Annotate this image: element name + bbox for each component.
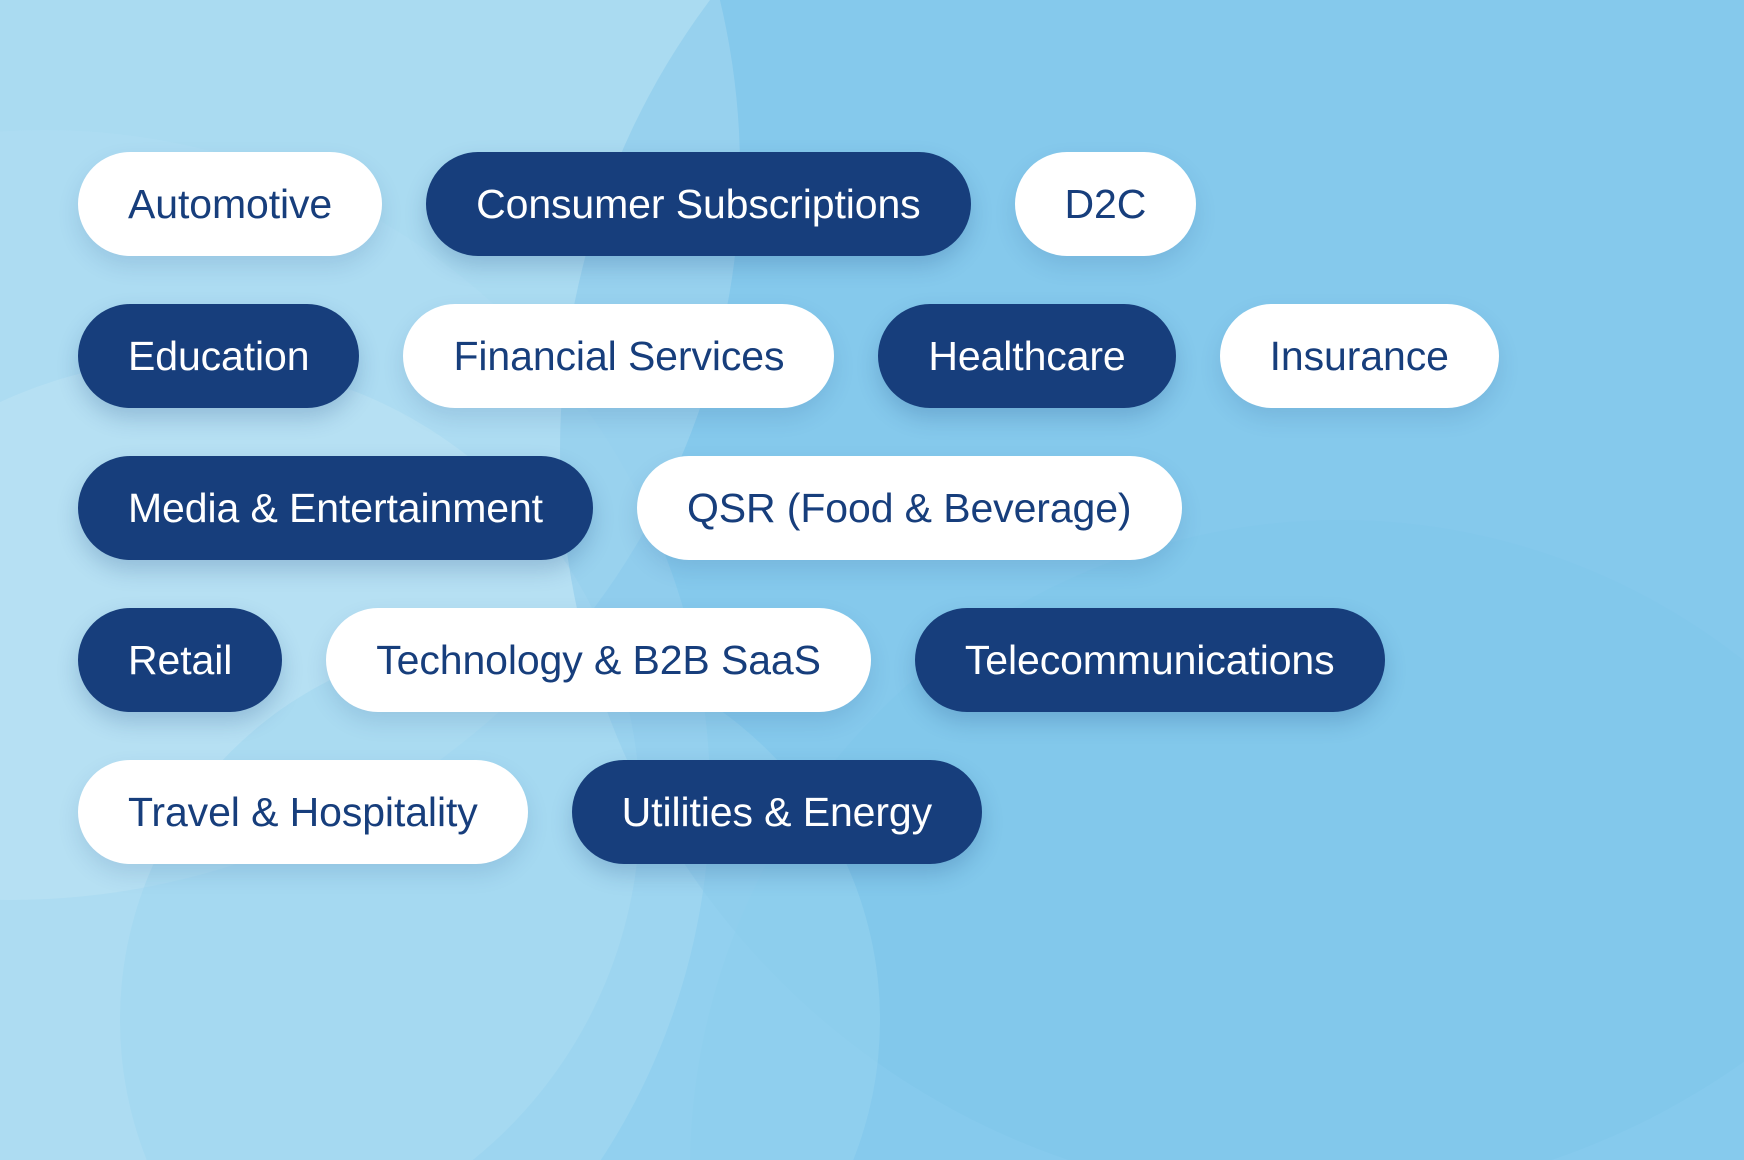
tag-row: RetailTechnology & B2B SaaSTelecommunica… xyxy=(78,608,1744,712)
industry-tag-label: D2C xyxy=(1065,184,1147,225)
industry-tag-label: Automotive xyxy=(128,184,332,225)
industry-tag[interactable]: Automotive xyxy=(78,152,382,256)
tag-row: EducationFinancial ServicesHealthcareIns… xyxy=(78,304,1744,408)
industry-tag[interactable]: Media & Entertainment xyxy=(78,456,593,560)
tag-row: AutomotiveConsumer SubscriptionsD2C xyxy=(78,152,1744,256)
industry-tag-cloud: AutomotiveConsumer SubscriptionsD2CEduca… xyxy=(0,0,1744,1160)
industry-tag[interactable]: Retail xyxy=(78,608,282,712)
industry-tag-label: Technology & B2B SaaS xyxy=(376,640,821,681)
industry-tag-label: Financial Services xyxy=(453,336,784,377)
tag-row: Media & EntertainmentQSR (Food & Beverag… xyxy=(78,456,1744,560)
industry-tag-label: Consumer Subscriptions xyxy=(476,184,920,225)
industry-tag[interactable]: Healthcare xyxy=(878,304,1175,408)
industry-tag[interactable]: D2C xyxy=(1015,152,1197,256)
tag-row: Travel & HospitalityUtilities & Energy xyxy=(78,760,1744,864)
industry-tag[interactable]: Education xyxy=(78,304,359,408)
tag-rows: AutomotiveConsumer SubscriptionsD2CEduca… xyxy=(0,0,1744,864)
industry-tag[interactable]: Telecommunications xyxy=(915,608,1385,712)
industry-tag[interactable]: Consumer Subscriptions xyxy=(426,152,970,256)
industry-tag-label: Telecommunications xyxy=(965,640,1335,681)
industry-tag-label: Travel & Hospitality xyxy=(128,792,478,833)
industry-tag-label: QSR (Food & Beverage) xyxy=(687,488,1132,529)
industry-tag[interactable]: Travel & Hospitality xyxy=(78,760,528,864)
industry-tag[interactable]: Utilities & Energy xyxy=(572,760,982,864)
industry-tag-label: Utilities & Energy xyxy=(622,792,932,833)
industry-tag[interactable]: Insurance xyxy=(1220,304,1499,408)
industry-tag[interactable]: QSR (Food & Beverage) xyxy=(637,456,1182,560)
industry-tag[interactable]: Financial Services xyxy=(403,304,834,408)
industry-tag-label: Insurance xyxy=(1270,336,1449,377)
industry-tag-label: Education xyxy=(128,336,309,377)
industry-tag-label: Media & Entertainment xyxy=(128,488,543,529)
industry-tag-label: Retail xyxy=(128,640,232,681)
industry-tag[interactable]: Technology & B2B SaaS xyxy=(326,608,871,712)
industry-tag-label: Healthcare xyxy=(928,336,1125,377)
